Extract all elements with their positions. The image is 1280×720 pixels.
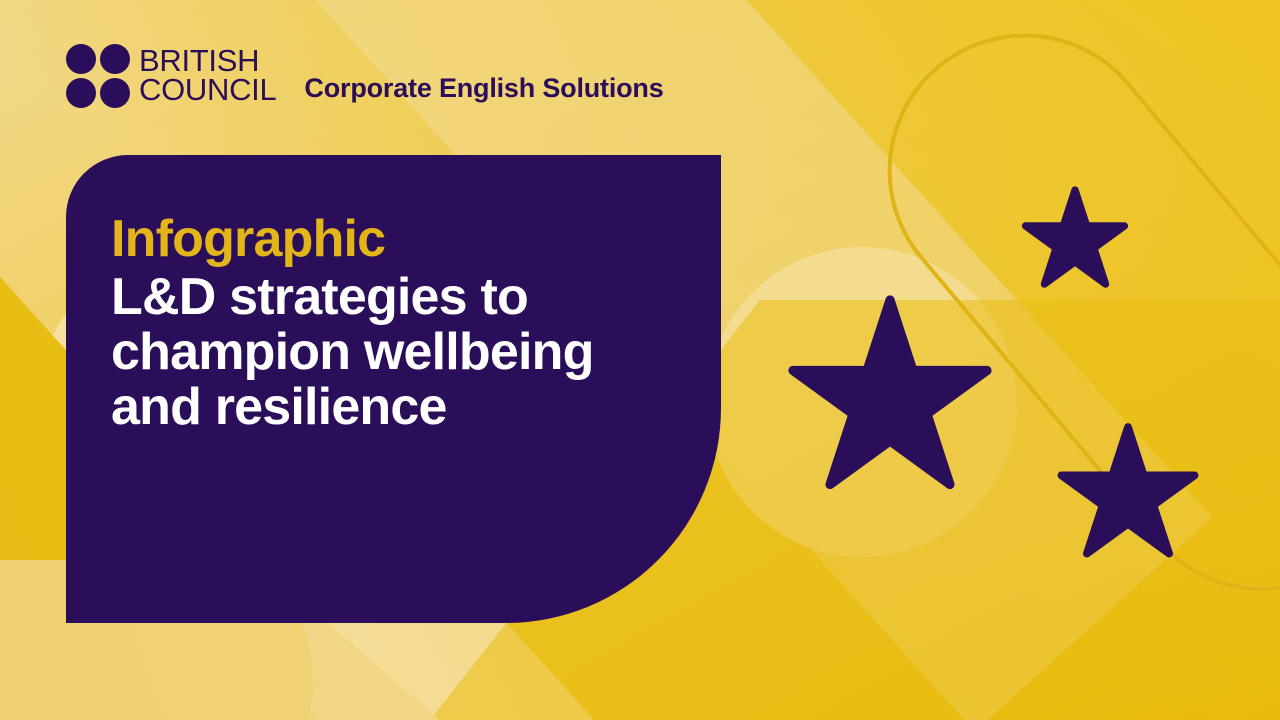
british-council-logo[interactable]: BRITISH COUNCIL bbox=[66, 44, 276, 108]
title-panel: Infographic L&D strategies to champion w… bbox=[66, 155, 721, 623]
page-title: L&D strategies to champion wellbeing and… bbox=[111, 270, 656, 435]
logo-text-line2: COUNCIL bbox=[139, 76, 276, 105]
logo-dot-bottom-right bbox=[100, 78, 130, 108]
title-panel-content: Infographic L&D strategies to champion w… bbox=[111, 212, 697, 435]
eyebrow-label: Infographic bbox=[111, 212, 697, 266]
logo-dot-top-left bbox=[66, 44, 96, 74]
logo-dot-top-right bbox=[100, 44, 130, 74]
logo-dot-bottom-left bbox=[66, 78, 96, 108]
slide-canvas: BRITISH COUNCIL Corporate English Soluti… bbox=[0, 0, 1280, 720]
british-council-dots-icon bbox=[66, 44, 130, 108]
tagline: Corporate English Solutions bbox=[304, 75, 663, 102]
header: BRITISH COUNCIL Corporate English Soluti… bbox=[66, 44, 664, 108]
british-council-wordmark: BRITISH COUNCIL bbox=[139, 47, 276, 105]
